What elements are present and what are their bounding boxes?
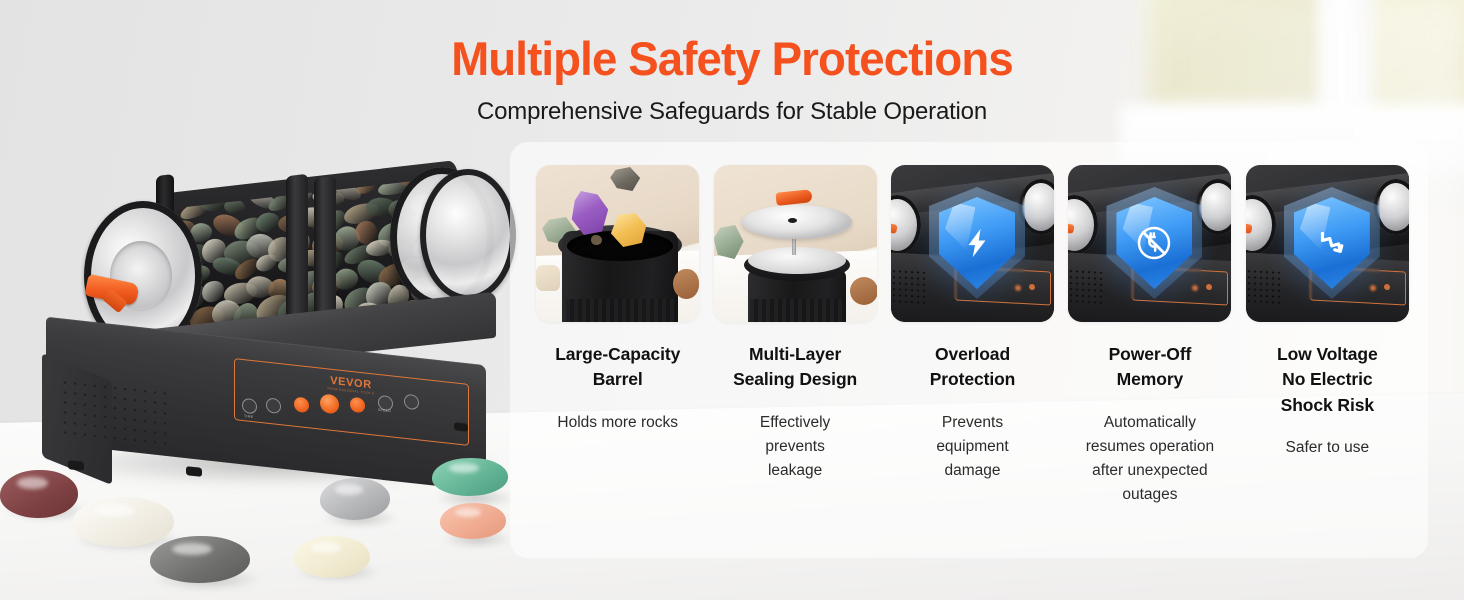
feature-image-shield-lightning-bolt (891, 165, 1054, 322)
feature-title: Power-Off Memory (1109, 342, 1192, 393)
feature-title: Multi-Layer Sealing Design (733, 342, 857, 393)
feature-description: Holds more rocks (553, 411, 683, 435)
feature-image-barrel-with-raw-gems (536, 165, 699, 322)
feature-description: Automatically resumes operation after un… (1080, 411, 1220, 507)
stone-cream (294, 536, 370, 578)
drum-cap-right (420, 169, 516, 301)
stone-peach (440, 503, 506, 539)
feature-description: Effectively prevents leakage (736, 411, 854, 483)
product-rock-tumbler: VEVOR PROFESSIONAL TOOLS TIME SPEED (30, 175, 530, 505)
page-subtitle: Comprehensive Safeguards for Stable Oper… (0, 98, 1464, 126)
feature-image-exploded-lid-assembly (714, 165, 877, 322)
feature-title-line: No Electric (1277, 367, 1378, 392)
feature-title-line: Low Voltage (1277, 342, 1378, 367)
button-down-time[interactable] (266, 397, 281, 414)
feature-description: Prevents equipment damage (917, 411, 1029, 483)
feature-title-line: Overload (930, 342, 1016, 367)
button-mode-left[interactable] (294, 396, 309, 413)
stone-light-grey (320, 478, 390, 520)
button-mode-right[interactable] (350, 397, 365, 414)
feature-title: Low Voltage No Electric Shock Risk (1277, 342, 1378, 418)
stone-green (432, 458, 508, 496)
feature-title-line: Sealing Design (733, 367, 857, 392)
voltage-drop-shield-icon (1294, 197, 1370, 289)
base-foot-mid (186, 466, 202, 477)
feature-image-shield-voltage-drop-arrow (1246, 165, 1409, 322)
stone-grey (150, 536, 250, 583)
feature-title: Overload Protection (930, 342, 1016, 393)
feature-title-line: Barrel (555, 367, 680, 392)
feature-card-multi-layer-sealing-design[interactable]: Multi-Layer Sealing Design Effectively p… (706, 165, 883, 558)
feature-title-line: Shock Risk (1277, 393, 1378, 418)
feature-card-low-voltage-no-electric-shock-risk[interactable]: Low Voltage No Electric Shock Risk Safer… (1239, 165, 1416, 558)
feature-card-overload-protection[interactable]: Overload Protection Prevents equipment d… (884, 165, 1061, 558)
base-foot-left (68, 460, 84, 471)
stone-maroon (0, 470, 78, 518)
feature-card-power-off-memory[interactable]: Power-Off Memory Automatically resumes o… (1061, 165, 1238, 558)
label-speed: SPEED (378, 408, 391, 413)
no-plug-shield-icon (1116, 197, 1192, 289)
feature-title-line: Large-Capacity (555, 342, 680, 367)
feature-cards: Large-Capacity Barrel Holds more rocks M… (510, 142, 1428, 558)
tumbler-base: VEVOR PROFESSIONAL TOOLS TIME SPEED (38, 315, 508, 475)
feature-title-line: Power-Off (1109, 342, 1192, 367)
button-minus-time[interactable] (242, 398, 257, 415)
feature-title-line: Protection (930, 367, 1016, 392)
stone-white (72, 497, 174, 547)
page-title: Multiple Safety Protections (22, 31, 1442, 86)
feature-title-line: Memory (1109, 367, 1192, 392)
feature-description: Safer to use (1262, 436, 1392, 460)
feature-title: Large-Capacity Barrel (555, 342, 680, 393)
feature-image-shield-no-plug (1068, 165, 1231, 322)
ventilation-grille (60, 377, 170, 445)
lightning-bolt-shield-icon (939, 197, 1015, 289)
feature-title-line: Multi-Layer (733, 342, 857, 367)
base-foot-right (454, 422, 468, 432)
feature-card-large-capacity-barrel[interactable]: Large-Capacity Barrel Holds more rocks (529, 165, 706, 558)
button-power[interactable] (320, 393, 339, 414)
